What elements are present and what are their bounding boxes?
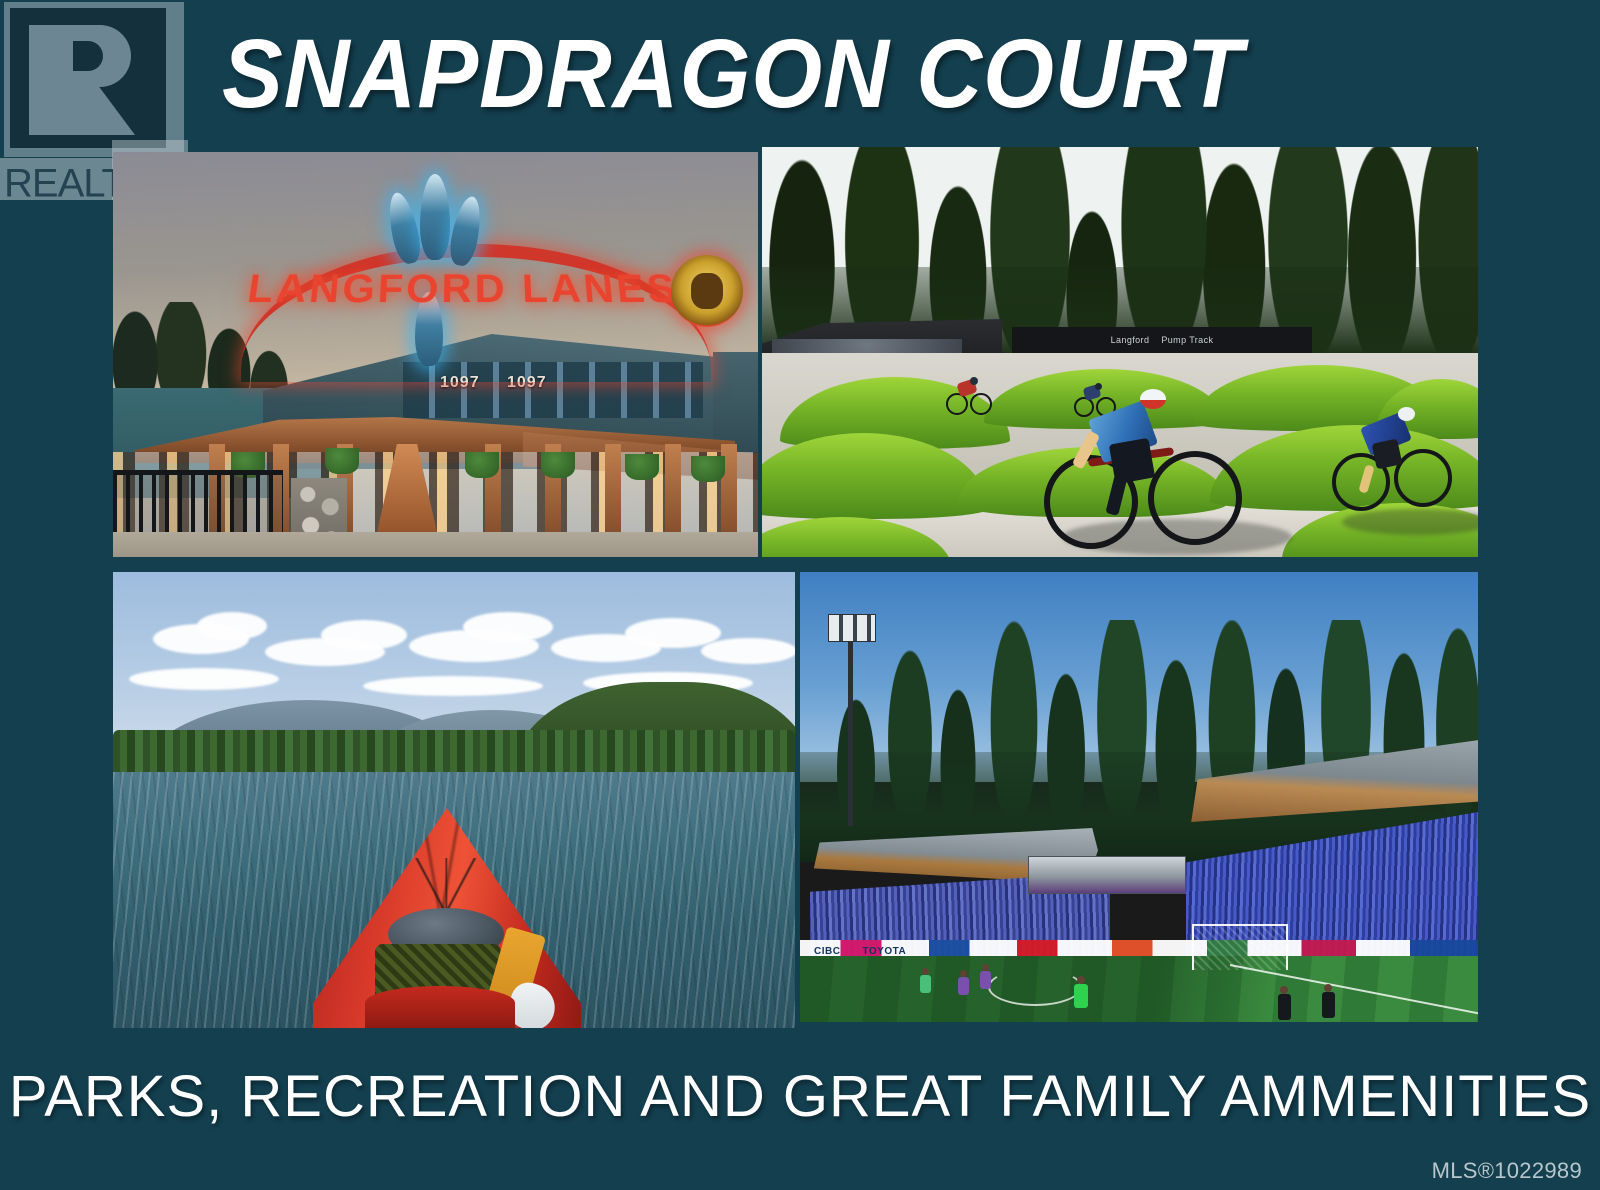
bicycle-wheel: [946, 393, 968, 415]
pump-track-photo-content: Langford Pump Track: [762, 147, 1478, 557]
realtor-logo-frame: [4, 2, 184, 157]
cloud: [197, 612, 267, 640]
page-title: SNAPDRAGON COURT: [222, 14, 1275, 132]
realtor-logo-r-counter: [73, 41, 103, 71]
realtor-logo-r-stem: [29, 25, 73, 135]
pump-track-sponsor-langford: Langford: [1111, 335, 1150, 345]
player-head: [922, 968, 929, 975]
player-kit: [1074, 984, 1088, 1008]
stadium-photo-content: CIBC TOYOTA: [800, 572, 1478, 1022]
cyclist-helmet: [1095, 383, 1102, 390]
stadium-floodlight-head: [828, 614, 876, 642]
player-head: [982, 964, 989, 971]
bowling-photo-content: 1097 1097 LANGFORD LANES: [113, 152, 758, 557]
stadium-goal-net: [1192, 924, 1288, 970]
mls-number: MLS®1022989: [1432, 1158, 1582, 1184]
cloud: [701, 638, 795, 664]
player-head: [1324, 984, 1332, 992]
cyclist-shorts: [1372, 439, 1403, 470]
bowling-hanging-basket: [691, 456, 725, 482]
player-kit: [958, 977, 969, 995]
listing-flyer: SNAPDRAGON COURT REALTOR® 1097 1097 LAN: [0, 0, 1600, 1190]
stadium-press-box: [1028, 856, 1186, 894]
kayak-spray-skirt: [365, 986, 515, 1028]
cloud: [321, 620, 407, 650]
player-kit: [1278, 994, 1291, 1020]
cloud: [129, 668, 279, 690]
bowling-walkway: [113, 532, 758, 557]
cloud: [463, 612, 553, 642]
flyer-caption: PARKS, RECREATION AND GREAT FAMILY AMMEN…: [0, 1058, 1600, 1136]
stadium-floodlight-mast: [848, 626, 853, 826]
stadium-pitch-shadow: [800, 956, 1478, 1022]
pump-track-sponsor-banner: Langford Pump Track: [1012, 327, 1312, 353]
bowling-hanging-basket: [325, 448, 359, 474]
realtor-logo-block: [10, 8, 166, 148]
cyclist-helmet: [1140, 389, 1166, 409]
bicycle-wheel: [1074, 397, 1094, 417]
bowling-sign-text: LANGFORD LANES: [226, 260, 700, 348]
realtor-logo-r-leg: [73, 80, 135, 135]
player-kit: [1322, 992, 1335, 1018]
bicycle-wheel: [970, 393, 992, 415]
cloud: [363, 676, 543, 696]
player-head: [1280, 986, 1288, 994]
player-kit: [920, 975, 931, 993]
stadium-sponsor-cibc: CIBC: [814, 946, 840, 957]
bowling-hanging-basket: [465, 452, 499, 478]
cyclist-helmet: [970, 377, 978, 385]
soccer-stadium-photo: CIBC TOYOTA: [800, 572, 1478, 1022]
player-kit: [980, 971, 991, 989]
bowling-hanging-basket: [625, 454, 659, 480]
langford-lanes-bowling-photo: 1097 1097 LANGFORD LANES: [113, 152, 758, 557]
stadium-centre-circle-arc: [988, 968, 1082, 1006]
player-head: [1077, 976, 1085, 984]
bowling-hanging-basket: [541, 452, 575, 478]
player-head: [960, 970, 967, 977]
lake-kayaking-photo: [113, 572, 795, 1028]
kayak-shoreline-trees: [113, 730, 795, 778]
kayak-photo-content: [113, 572, 795, 1028]
bowling-sign-emblem: [671, 255, 743, 327]
realtor-logo-r-bowl: [73, 25, 131, 87]
bicycle-wheel: [1148, 451, 1242, 545]
cyclist-helmet: [1398, 407, 1415, 421]
bicycle-wheel: [1394, 449, 1452, 507]
pump-track-cycling-photo: Langford Pump Track: [762, 147, 1478, 557]
stadium-sponsor-toyota: TOYOTA: [862, 946, 906, 957]
pump-track-sponsor-secondary: Pump Track: [1161, 335, 1213, 345]
